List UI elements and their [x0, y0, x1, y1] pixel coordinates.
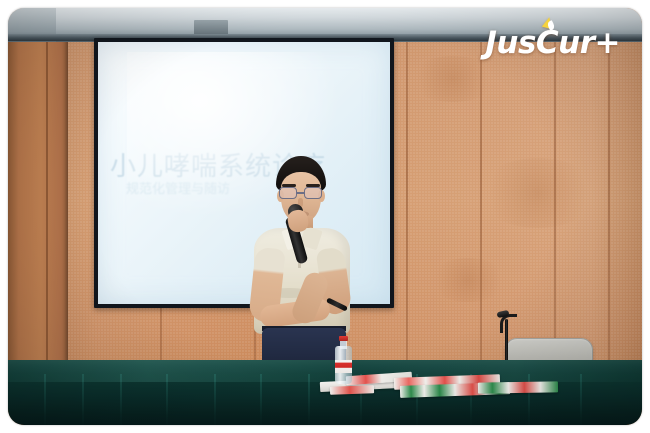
skirt-pleat — [580, 374, 582, 425]
skirt-pleat — [214, 374, 216, 425]
skirt-pleat — [166, 374, 168, 425]
printed-banner — [478, 381, 558, 393]
juscur-logo: JusCur+ — [485, 26, 620, 60]
wall-wood-column — [8, 32, 68, 387]
skirt-pleat — [260, 374, 262, 425]
photo-frame: 小儿哮喘系统诊疗 规范化管理与随访 — [8, 8, 642, 425]
bottle-label — [335, 360, 352, 373]
skirt-pleat — [82, 374, 84, 425]
table-paper — [330, 385, 374, 395]
bottle-cap — [339, 336, 348, 341]
eyeglass-lens-right — [304, 187, 322, 199]
eyeglass-bridge — [297, 192, 304, 194]
skirt-pleat — [44, 374, 46, 425]
skirt-pleat — [120, 374, 122, 425]
wall-seam — [46, 32, 48, 387]
logo-wordmark: JusCur+ — [485, 28, 620, 59]
screenshot-canvas: 小儿哮喘系统诊疗 规范化管理与随访 — [0, 0, 650, 433]
eyeglass-lens-left — [279, 187, 297, 199]
skirt-pleat — [308, 374, 310, 425]
water-bottle — [335, 336, 352, 384]
